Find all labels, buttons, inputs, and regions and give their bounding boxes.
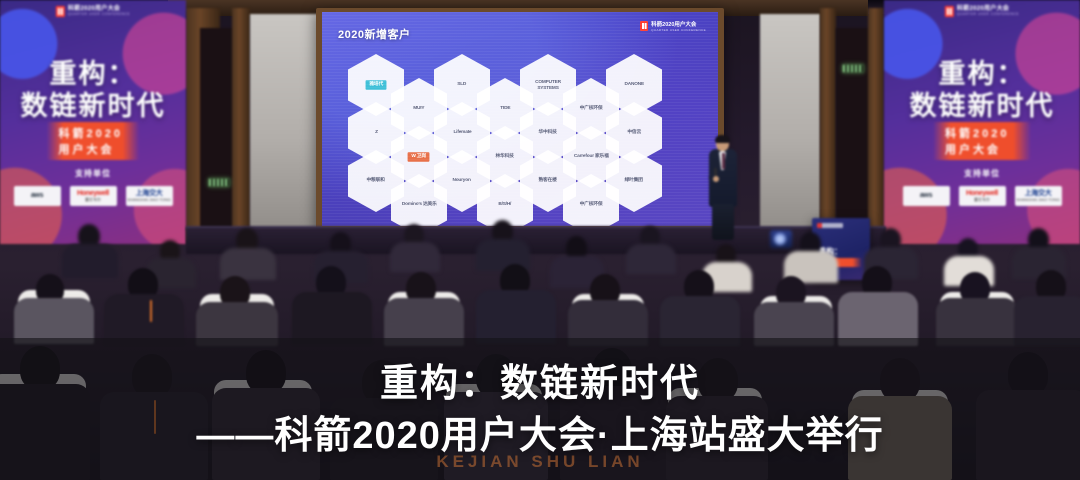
speaker-hand	[713, 176, 719, 182]
banner-logo-right: 科箭2020用户大会 QUARTER USER CONFERENCE	[945, 6, 1019, 17]
banner-subtitle: 科箭2020用户大会	[933, 122, 1031, 160]
exit-sign-right	[842, 64, 864, 73]
sponsor-aws: aws	[14, 186, 61, 206]
conference-photo: 科箭2020用户大会 QUARTER USER CONFERENCE 重构： 数…	[0, 0, 1080, 480]
banner-logo-sub: QUARTER USER CONFERENCE	[68, 13, 130, 16]
overlay-title-line1: 重构：数链新时代	[0, 352, 1080, 407]
presentation-screen[interactable]: 2020新增客户 科箭2020用户大会 QUARTER USER CONFERE…	[322, 12, 718, 226]
speaker-hair	[715, 135, 730, 143]
slide-logo-title: 科箭2020用户大会	[651, 20, 706, 28]
slide-logo: 科箭2020用户大会 QUARTER USER CONFERENCE	[640, 20, 706, 32]
speaker-tie	[722, 153, 725, 169]
kejian-logo-icon	[56, 6, 65, 17]
wall-panel-left	[250, 14, 320, 240]
kejian-logo-icon	[640, 21, 648, 31]
banner-title-line2: 数链新时代	[884, 84, 1080, 123]
sponsor-university: 上海交大 SHANGHAI JIAO TONG	[126, 186, 173, 206]
slide-logo-sub: QUARTER USER CONFERENCE	[651, 28, 706, 32]
kejian-logo-icon	[945, 6, 954, 17]
sponsor-honeywell: Honeywell 霍尼韦尔	[70, 186, 117, 206]
overlay-title-line2: ——科箭2020用户大会·上海站盛大举行	[0, 404, 1080, 459]
wall-wood-right-2	[868, 8, 884, 240]
wall-wood-right	[820, 8, 836, 240]
doorway-right	[836, 28, 870, 228]
client-logo-hive: 雅培代 SLD COMPUTER SYSTEMS DANONE MUIY TID…	[342, 48, 682, 208]
banner-support-label: 支持单位	[0, 168, 186, 179]
banner-left: 科箭2020用户大会 QUARTER USER CONFERENCE 重构： 数…	[0, 0, 186, 244]
banner-title-line2: 数链新时代	[0, 84, 186, 123]
wall-panel-right	[760, 14, 820, 240]
exit-sign-left	[208, 178, 230, 187]
banner-logo-sub: QUARTER USER CONFERENCE	[957, 13, 1019, 16]
slide-title: 2020新增客户	[338, 26, 410, 42]
sponsor-logos-right: aws Honeywell 霍尼韦尔 上海交大 SHANGHAI JIAO TO…	[884, 186, 1080, 206]
banner-right: 科箭2020用户大会 QUARTER USER CONFERENCE 重构： 数…	[884, 0, 1080, 244]
doorway-left	[200, 28, 236, 238]
sponsor-honeywell: Honeywell 霍尼韦尔	[959, 186, 1006, 206]
sponsor-logos-left: aws Honeywell 霍尼韦尔 上海交大 SHANGHAI JIAO TO…	[0, 186, 186, 206]
banner-subtitle: 科箭2020用户大会	[47, 122, 140, 160]
banner-logo-left: 科箭2020用户大会 QUARTER USER CONFERENCE	[56, 6, 130, 17]
banner-support-label: 支持单位	[884, 168, 1080, 179]
sponsor-university: 上海交大 SHANGHAI JIAO TONG	[1015, 186, 1062, 206]
wall-wood-left-2	[232, 8, 250, 240]
sponsor-aws: aws	[903, 186, 950, 206]
